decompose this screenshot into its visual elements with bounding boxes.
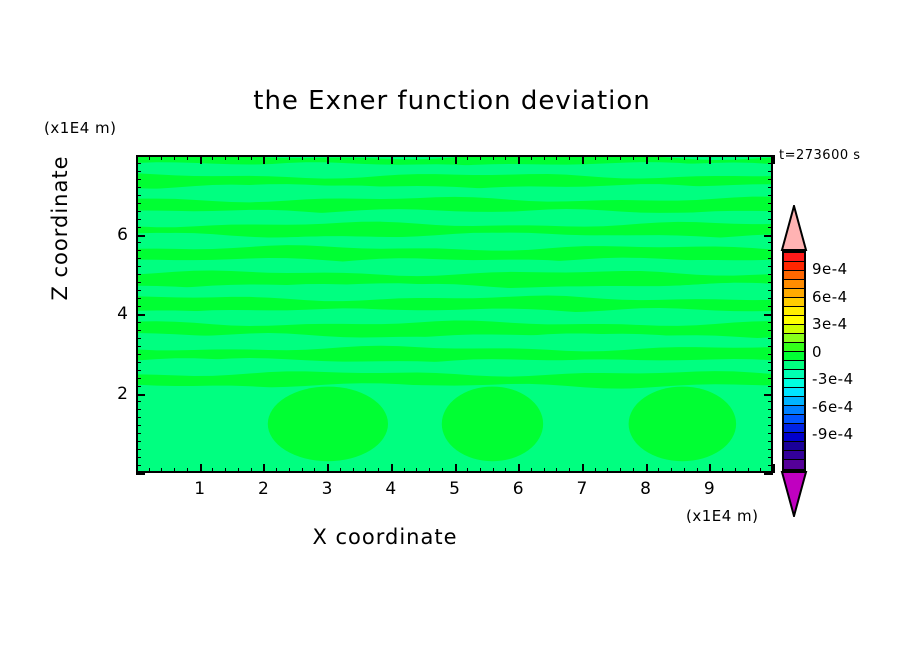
x-minor-tick: [658, 468, 659, 473]
x-minor-tick-top: [353, 155, 354, 160]
y-minor-tick-right: [768, 187, 773, 188]
x-minor-tick: [429, 468, 430, 473]
x-minor-tick: [544, 468, 545, 473]
y-major-tick: [136, 155, 145, 157]
x-minor-tick-top: [735, 155, 736, 160]
x-minor-tick-top: [505, 155, 506, 160]
x-minor-tick-top: [697, 155, 698, 160]
colorbar-segment: [784, 262, 804, 271]
x-minor-tick: [251, 468, 252, 473]
y-major-tick-right: [764, 155, 773, 157]
x-major-tick: [455, 464, 457, 473]
y-minor-tick: [136, 457, 141, 458]
colorbar-segment: [784, 352, 804, 361]
x-minor-tick: [684, 468, 685, 473]
x-minor-tick-top: [251, 155, 252, 160]
y-minor-tick: [136, 346, 141, 347]
y-minor-tick: [136, 258, 141, 259]
colorbar-overflow-bottom-icon: [780, 471, 808, 517]
x-major-tick-top: [200, 155, 202, 164]
y-major-tick: [136, 235, 145, 237]
y-minor-tick: [136, 441, 141, 442]
x-minor-tick-top: [556, 155, 557, 160]
colorbar-segment: [784, 316, 804, 325]
y-minor-tick-right: [768, 457, 773, 458]
x-tick-label: 6: [513, 479, 524, 499]
x-minor-tick: [531, 468, 532, 473]
y-minor-tick: [136, 242, 141, 243]
y-minor-tick-right: [768, 298, 773, 299]
colorbar-tick-label: -3e-4: [812, 370, 854, 388]
x-minor-tick-top: [595, 155, 596, 160]
x-minor-tick-top: [569, 155, 570, 160]
x-minor-tick-top: [404, 155, 405, 160]
y-minor-tick-right: [768, 386, 773, 387]
y-minor-tick: [136, 354, 141, 355]
contour-cell: [629, 387, 737, 462]
x-minor-tick-top: [378, 155, 379, 160]
colorbar-segment: [784, 343, 804, 352]
x-minor-tick-top: [302, 155, 303, 160]
y-minor-tick-right: [768, 370, 773, 371]
x-minor-tick-top: [671, 155, 672, 160]
y-minor-tick-right: [768, 417, 773, 418]
x-minor-tick: [480, 468, 481, 473]
colorbar-segment: [784, 289, 804, 298]
y-minor-tick: [136, 290, 141, 291]
y-minor-tick-right: [768, 163, 773, 164]
time-annotation: t=273600 s: [779, 148, 861, 163]
x-minor-tick: [225, 468, 226, 473]
y-major-tick-right: [764, 235, 773, 237]
x-minor-tick-top: [684, 155, 685, 160]
y-minor-tick-right: [768, 219, 773, 220]
colorbar-tick-label: 0: [812, 343, 822, 361]
x-minor-tick: [212, 468, 213, 473]
x-major-tick-top: [455, 155, 457, 164]
x-tick-label: 5: [449, 479, 460, 499]
x-major-tick: [518, 464, 520, 473]
y-minor-tick-right: [768, 338, 773, 339]
colorbar-segment: [784, 325, 804, 334]
x-minor-tick-top: [238, 155, 239, 160]
colorbar: [780, 205, 808, 517]
x-minor-tick-top: [187, 155, 188, 160]
x-major-tick: [263, 464, 265, 473]
x-axis-title: X coordinate: [0, 525, 770, 549]
colorbar-segment: [784, 442, 804, 451]
x-minor-tick: [442, 468, 443, 473]
y-minor-tick-right: [768, 465, 773, 466]
y-minor-tick: [136, 449, 141, 450]
x-minor-tick: [174, 468, 175, 473]
colorbar-segment: [784, 280, 804, 289]
x-minor-tick-top: [620, 155, 621, 160]
colorbar-tick-label: 3e-4: [812, 315, 848, 333]
y-minor-tick: [136, 203, 141, 204]
x-minor-tick: [671, 468, 672, 473]
contour-plot-area: [136, 155, 773, 473]
x-major-tick-top: [263, 155, 265, 164]
y-major-tick-right: [764, 314, 773, 316]
x-minor-tick-top: [658, 155, 659, 160]
colorbar-tick-label: 9e-4: [812, 260, 848, 278]
x-minor-tick: [748, 468, 749, 473]
y-minor-tick: [136, 386, 141, 387]
x-major-tick: [709, 464, 711, 473]
x-minor-tick: [569, 468, 570, 473]
x-minor-tick-top: [276, 155, 277, 160]
x-minor-tick: [365, 468, 366, 473]
colorbar-segment: [784, 379, 804, 388]
x-minor-tick-top: [760, 155, 761, 160]
y-minor-tick: [136, 282, 141, 283]
x-minor-tick-top: [480, 155, 481, 160]
y-minor-tick: [136, 163, 141, 164]
y-minor-tick-right: [768, 282, 773, 283]
x-tick-label: 8: [640, 479, 651, 499]
y-tick-label: 6: [110, 225, 128, 245]
colorbar-segment: [784, 298, 804, 307]
x-minor-tick: [416, 468, 417, 473]
y-minor-tick: [136, 338, 141, 339]
x-minor-tick: [735, 468, 736, 473]
y-minor-tick: [136, 322, 141, 323]
x-minor-tick-top: [225, 155, 226, 160]
y-minor-tick: [136, 433, 141, 434]
y-minor-tick-right: [768, 362, 773, 363]
y-minor-tick-right: [768, 250, 773, 251]
colorbar-segment: [784, 451, 804, 460]
y-minor-tick: [136, 378, 141, 379]
y-minor-tick-right: [768, 203, 773, 204]
x-tick-label: 3: [322, 479, 333, 499]
colorbar-segment: [784, 415, 804, 424]
contour-field: [138, 157, 771, 471]
x-minor-tick: [314, 468, 315, 473]
x-minor-tick: [149, 468, 150, 473]
x-minor-tick: [620, 468, 621, 473]
x-minor-tick-top: [493, 155, 494, 160]
x-minor-tick-top: [340, 155, 341, 160]
x-minor-tick: [633, 468, 634, 473]
y-minor-tick: [136, 266, 141, 267]
y-minor-tick-right: [768, 346, 773, 347]
y-minor-tick: [136, 362, 141, 363]
colorbar-tick-label: 6e-4: [812, 288, 848, 306]
y-minor-tick: [136, 409, 141, 410]
y-minor-tick-right: [768, 409, 773, 410]
colorbar-segment: [784, 388, 804, 397]
y-minor-tick: [136, 465, 141, 466]
x-minor-tick-top: [149, 155, 150, 160]
y-minor-tick: [136, 298, 141, 299]
x-minor-tick: [722, 468, 723, 473]
colorbar-segment: [784, 271, 804, 280]
y-minor-tick-right: [768, 266, 773, 267]
x-minor-tick: [289, 468, 290, 473]
x-tick-label: 7: [576, 479, 587, 499]
x-minor-tick: [697, 468, 698, 473]
colorbar-segment: [784, 370, 804, 379]
y-minor-tick-right: [768, 227, 773, 228]
y-minor-tick-right: [768, 322, 773, 323]
x-minor-tick: [595, 468, 596, 473]
y-minor-tick-right: [768, 401, 773, 402]
x-major-tick: [200, 464, 202, 473]
x-minor-tick-top: [607, 155, 608, 160]
x-minor-tick: [493, 468, 494, 473]
colorbar-segment: [784, 424, 804, 433]
y-minor-tick-right: [768, 258, 773, 259]
x-minor-tick: [238, 468, 239, 473]
y-minor-tick: [136, 306, 141, 307]
x-minor-tick-top: [722, 155, 723, 160]
colorbar-tick-label: -9e-4: [812, 425, 854, 443]
y-minor-tick-right: [768, 290, 773, 291]
x-major-tick-top: [646, 155, 648, 164]
y-minor-tick-right: [768, 171, 773, 172]
y-minor-tick: [136, 417, 141, 418]
x-minor-tick-top: [212, 155, 213, 160]
colorbar-segment: [784, 397, 804, 406]
x-minor-tick-top: [531, 155, 532, 160]
colorbar-segment: [784, 460, 804, 469]
x-minor-tick: [404, 468, 405, 473]
x-minor-tick-top: [416, 155, 417, 160]
x-tick-label: 1: [194, 479, 205, 499]
x-minor-tick: [505, 468, 506, 473]
x-minor-tick-top: [429, 155, 430, 160]
y-minor-tick: [136, 425, 141, 426]
x-tick-label: 9: [704, 479, 715, 499]
x-minor-tick-top: [289, 155, 290, 160]
x-tick-label: 2: [258, 479, 269, 499]
contour-cell: [268, 387, 388, 462]
colorbar-tick-label: -6e-4: [812, 398, 854, 416]
y-minor-tick: [136, 179, 141, 180]
colorbar-segments: [782, 251, 806, 471]
x-minor-tick-top: [544, 155, 545, 160]
x-minor-tick: [302, 468, 303, 473]
x-minor-tick: [607, 468, 608, 473]
y-major-tick: [136, 473, 145, 475]
y-axis-title: Z coordinate: [48, 108, 72, 348]
colorbar-segment: [784, 307, 804, 316]
y-major-tick: [136, 394, 145, 396]
y-minor-tick-right: [768, 211, 773, 212]
x-major-tick: [646, 464, 648, 473]
y-minor-tick-right: [768, 449, 773, 450]
x-minor-tick: [161, 468, 162, 473]
x-minor-tick: [340, 468, 341, 473]
x-tick-label: 4: [385, 479, 396, 499]
x-major-tick-top: [709, 155, 711, 164]
x-major-tick-top: [582, 155, 584, 164]
x-minor-tick-top: [748, 155, 749, 160]
y-minor-tick-right: [768, 330, 773, 331]
colorbar-segment: [784, 334, 804, 343]
x-minor-tick-top: [174, 155, 175, 160]
x-minor-tick: [276, 468, 277, 473]
x-minor-tick: [187, 468, 188, 473]
y-minor-tick-right: [768, 195, 773, 196]
x-minor-tick: [760, 468, 761, 473]
x-minor-tick-top: [161, 155, 162, 160]
y-minor-tick-right: [768, 425, 773, 426]
chart-title: the Exner function deviation: [0, 86, 904, 116]
y-minor-tick: [136, 187, 141, 188]
x-major-tick: [391, 464, 393, 473]
y-major-tick: [136, 314, 145, 316]
y-minor-tick: [136, 195, 141, 196]
x-minor-tick: [556, 468, 557, 473]
contour-cell: [442, 387, 543, 462]
y-tick-label: 2: [110, 384, 128, 404]
colorbar-segment: [784, 253, 804, 262]
x-minor-tick-top: [633, 155, 634, 160]
y-minor-tick: [136, 171, 141, 172]
y-minor-tick: [136, 227, 141, 228]
y-minor-tick: [136, 330, 141, 331]
x-minor-tick-top: [467, 155, 468, 160]
x-major-tick: [773, 464, 775, 473]
y-major-tick-right: [764, 473, 773, 475]
x-minor-tick-top: [365, 155, 366, 160]
y-minor-tick-right: [768, 306, 773, 307]
x-minor-tick: [467, 468, 468, 473]
x-major-tick: [327, 464, 329, 473]
x-minor-tick: [378, 468, 379, 473]
x-minor-tick-top: [314, 155, 315, 160]
y-major-tick-right: [764, 394, 773, 396]
y-minor-tick-right: [768, 179, 773, 180]
y-minor-tick: [136, 250, 141, 251]
y-minor-tick-right: [768, 441, 773, 442]
y-minor-tick-right: [768, 274, 773, 275]
y-minor-tick: [136, 370, 141, 371]
y-tick-label: 4: [110, 304, 128, 324]
x-minor-tick-top: [442, 155, 443, 160]
y-minor-tick-right: [768, 354, 773, 355]
y-minor-tick: [136, 274, 141, 275]
y-minor-tick: [136, 211, 141, 212]
x-minor-tick: [353, 468, 354, 473]
y-minor-tick-right: [768, 242, 773, 243]
y-minor-tick: [136, 401, 141, 402]
x-major-tick-top: [391, 155, 393, 164]
y-minor-tick-right: [768, 378, 773, 379]
x-major-tick-top: [518, 155, 520, 164]
colorbar-segment: [784, 433, 804, 442]
colorbar-segment: [784, 361, 804, 370]
x-axis-unit-label: (x1E4 m): [686, 507, 759, 525]
x-major-tick-top: [773, 155, 775, 164]
colorbar-overflow-top-icon: [780, 205, 808, 251]
y-minor-tick-right: [768, 433, 773, 434]
colorbar-segment: [784, 406, 804, 415]
x-major-tick-top: [327, 155, 329, 164]
x-major-tick: [582, 464, 584, 473]
y-minor-tick: [136, 219, 141, 220]
